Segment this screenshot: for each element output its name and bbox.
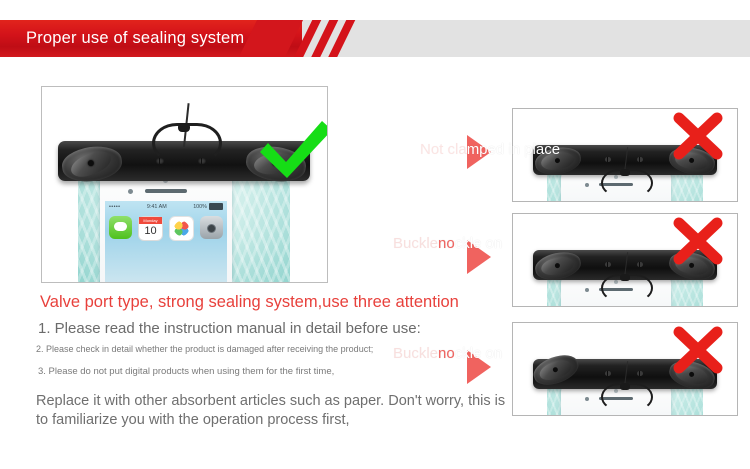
battery-percent-label: 100%	[193, 204, 207, 210]
mini-lanyard-knot-3	[620, 383, 630, 390]
mini-vent-3b	[637, 371, 643, 376]
phone-app-icons: Monday 10	[109, 216, 223, 241]
red-heading: Valve port type, strong sealing system,u…	[40, 293, 459, 312]
panel-caption-1: Not clamped in place	[420, 141, 560, 158]
clamp-vent-2	[198, 158, 206, 164]
mini-phone-sensor-icon-1	[585, 183, 589, 187]
page-title: Proper use of sealing system	[26, 20, 244, 57]
panel-caption-2-visible: ckle on	[455, 235, 503, 252]
panel-caption-1-faded: Not cla	[420, 141, 467, 158]
mini-lever-left-3	[530, 350, 582, 390]
clamp-vent-1	[156, 158, 164, 164]
check-icon	[256, 119, 328, 181]
panel-incorrect-2	[512, 213, 738, 307]
calendar-day-label: 10	[139, 224, 162, 239]
calendar-app-icon: Monday 10	[138, 216, 163, 241]
status-time: 9:41 AM	[147, 204, 167, 210]
cross-icon	[671, 325, 725, 375]
mini-lever-left-2	[533, 249, 583, 284]
mini-lanyard-knot-1	[620, 169, 630, 176]
panel-caption-3-mid: no	[438, 345, 455, 362]
battery-icon	[209, 203, 223, 210]
mini-phone-sensor-icon-2	[585, 288, 589, 292]
phone-sensor-icon	[128, 189, 133, 194]
cross-icon	[671, 111, 725, 161]
panel-caption-2-faded: Buckle	[393, 235, 438, 252]
camera-app-icon	[200, 216, 223, 239]
phone-screen: ••••• 9:41 AM 100% Monday 10	[105, 201, 227, 283]
battery-indicator: 100%	[193, 203, 223, 210]
panel-caption-3-faded: Buckle	[393, 345, 438, 362]
photos-app-icon	[169, 216, 194, 241]
phone-speaker-icon	[145, 189, 187, 193]
panel-caption-2: Bucklenockle on	[393, 235, 502, 252]
instruction-item-3: 3. Please do not put digital products wh…	[38, 366, 458, 378]
clamp-lever-left	[60, 143, 124, 185]
mini-lanyard-knot-2	[620, 274, 630, 281]
mini-vent-1b	[637, 157, 643, 162]
instruction-paragraph: Replace it with other absorbent articles…	[36, 392, 506, 430]
panel-caption-1-visible: mped in place	[467, 141, 560, 158]
calendar-month-label: Monday	[139, 217, 162, 224]
signal-dots-icon: •••••	[109, 204, 120, 210]
lanyard-knot	[178, 123, 190, 132]
messages-app-icon	[109, 216, 132, 239]
mini-vent-1a	[605, 157, 611, 162]
page-header-banner: Proper use of sealing system	[0, 20, 750, 57]
cross-icon	[671, 216, 725, 266]
main-product-photo: ••••• 9:41 AM 100% Monday 10	[41, 86, 328, 283]
mini-vent-2b	[637, 262, 643, 267]
phone-inside-pouch: ••••• 9:41 AM 100% Monday 10	[100, 169, 232, 283]
mini-vent-2a	[605, 262, 611, 267]
panel-incorrect-3	[512, 322, 738, 416]
panel-caption-3-visible: ckle on	[455, 345, 503, 362]
instruction-item-1: 1. Please read the instruction manual in…	[38, 320, 421, 337]
mini-phone-sensor-icon-3	[585, 397, 589, 401]
panel-caption-2-mid: no	[438, 235, 455, 252]
phone-status-bar: ••••• 9:41 AM 100%	[105, 201, 227, 212]
panel-caption-3: Bucklenockle on	[393, 345, 502, 362]
mini-vent-3a	[605, 371, 611, 376]
